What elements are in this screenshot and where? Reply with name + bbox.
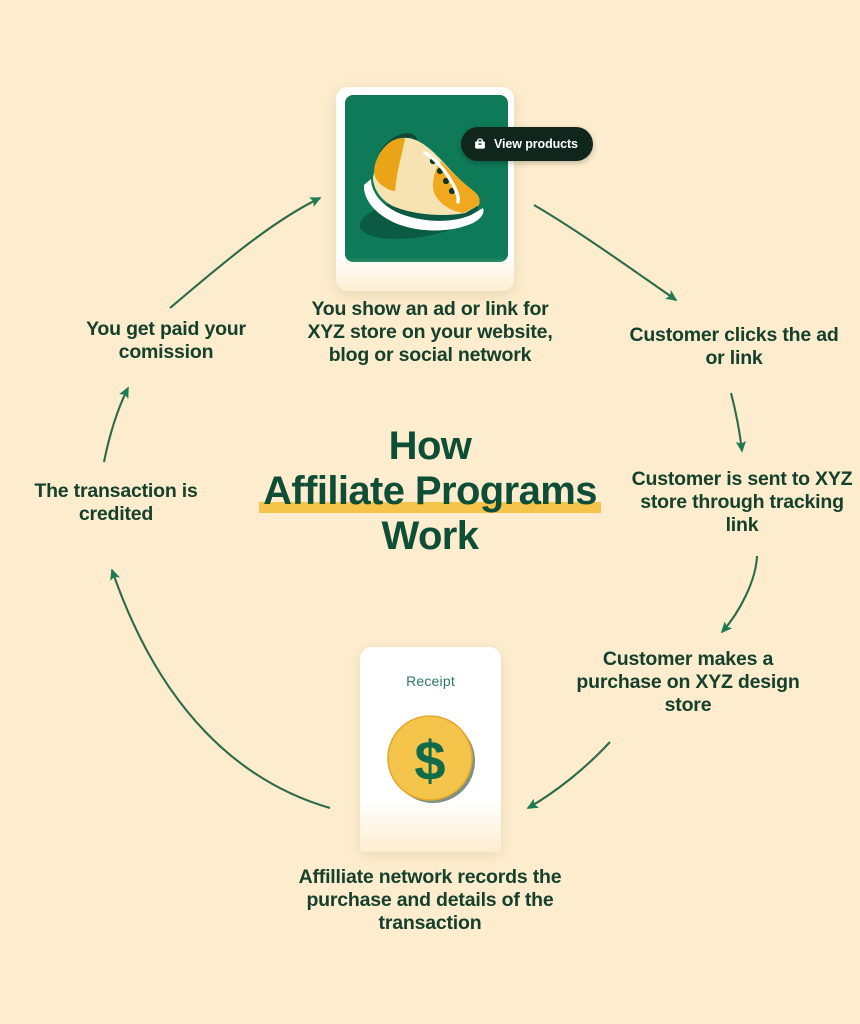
step-label-transaction-credited: The transaction is credited xyxy=(8,480,224,526)
step-label-network-records: Affilliate network records the purchase … xyxy=(279,866,581,935)
title-line-3: Work xyxy=(200,514,660,559)
step-label-get-paid: You get paid your comission xyxy=(62,318,270,364)
view-products-label: View products xyxy=(494,137,578,151)
arrow-paid-to-show-ad xyxy=(170,198,320,308)
svg-text:$: $ xyxy=(414,729,445,792)
page-title: How Affiliate Programs Work xyxy=(200,424,660,560)
title-line-1: How xyxy=(200,424,660,469)
shopping-bag-icon xyxy=(473,137,487,151)
receipt-card: Receipt $ xyxy=(360,647,501,852)
dollar-coin-icon: $ xyxy=(384,712,478,806)
affiliate-program-infographic: View products Receipt $ How Affiliate Pr… xyxy=(0,0,860,1024)
receipt-heading: Receipt xyxy=(360,673,501,689)
step-label-show-ad: You show an ad or link for XYZ store on … xyxy=(300,298,560,367)
arrow-purchase-to-receipt xyxy=(528,742,610,808)
arrow-sent-to-purchase xyxy=(722,556,757,632)
step-label-customer-clicks: Customer clicks the ad or link xyxy=(620,324,848,370)
arrow-receipt-to-credited xyxy=(112,570,330,808)
sneaker-illustration xyxy=(345,95,508,262)
product-card: View products xyxy=(336,87,514,291)
arrow-credited-to-paid xyxy=(104,388,128,462)
step-label-makes-purchase: Customer makes a purchase on XYZ design … xyxy=(573,648,803,717)
arrow-show-ad-to-click xyxy=(534,205,676,300)
step-label-sent-to-store: Customer is sent to XYZ store through tr… xyxy=(630,468,854,537)
product-image xyxy=(345,95,508,262)
title-line-2: Affiliate Programs xyxy=(200,469,660,514)
view-products-button[interactable]: View products xyxy=(461,127,593,161)
title-highlight: Affiliate Programs xyxy=(263,469,597,514)
arrow-click-to-sent xyxy=(731,393,742,451)
